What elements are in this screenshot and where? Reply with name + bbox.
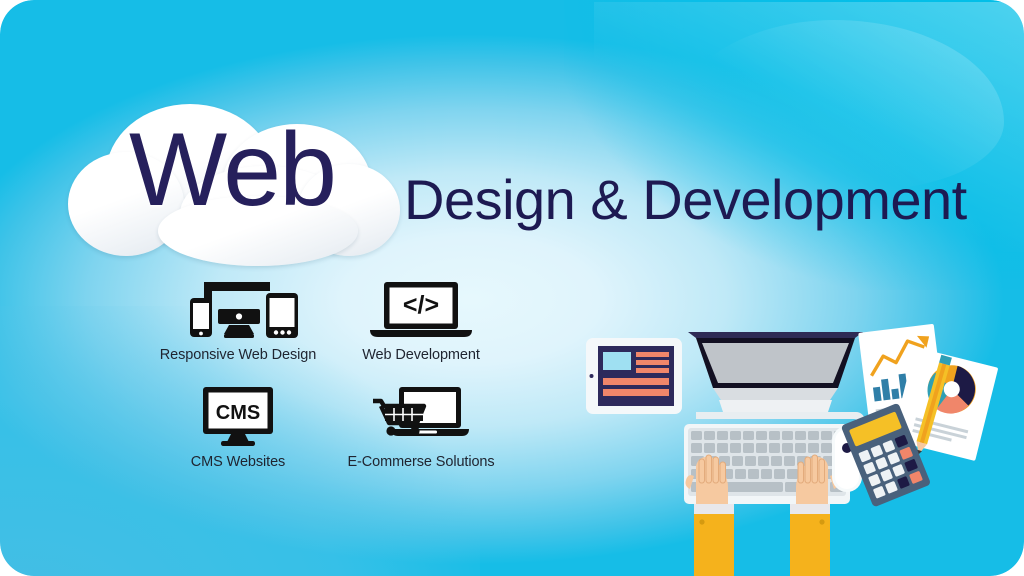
feature-row-1: Responsive Web Design </> Web Developmen…: [140, 278, 506, 363]
feature-row-2: CMS CMS Websites: [140, 385, 506, 470]
feature-label: CMS Websites: [191, 454, 285, 470]
laptop-code-icon: </>: [366, 278, 476, 340]
feature-web-development[interactable]: </> Web Development: [336, 278, 506, 363]
desktop-monitor: [688, 332, 865, 429]
feature-list: Responsive Web Design </> Web Developmen…: [140, 278, 506, 470]
logo-word: Web: [62, 118, 402, 222]
responsive-devices-icon: [174, 278, 302, 340]
cms-monitor-icon: CMS: [190, 385, 286, 447]
cms-screen-text: CMS: [216, 402, 260, 424]
feature-label: Responsive Web Design: [160, 347, 316, 363]
code-glyph: </>: [403, 291, 439, 319]
cloud-logo: Web: [62, 96, 402, 256]
workspace-illustration: [576, 276, 1006, 576]
feature-cms-websites[interactable]: CMS CMS Websites: [140, 385, 336, 470]
feature-responsive-web-design[interactable]: Responsive Web Design: [140, 278, 336, 363]
feature-label: E-Commerse Solutions: [347, 454, 494, 470]
feature-ecommerce-solutions[interactable]: E-Commerse Solutions: [336, 385, 506, 470]
page-title: Design & Development: [404, 172, 967, 228]
tablet-wireframe: [586, 338, 682, 414]
shopping-cart-laptop-icon: [363, 385, 479, 447]
feature-label: Web Development: [362, 347, 480, 363]
banner-stage: Web Design & Development: [0, 0, 1024, 576]
